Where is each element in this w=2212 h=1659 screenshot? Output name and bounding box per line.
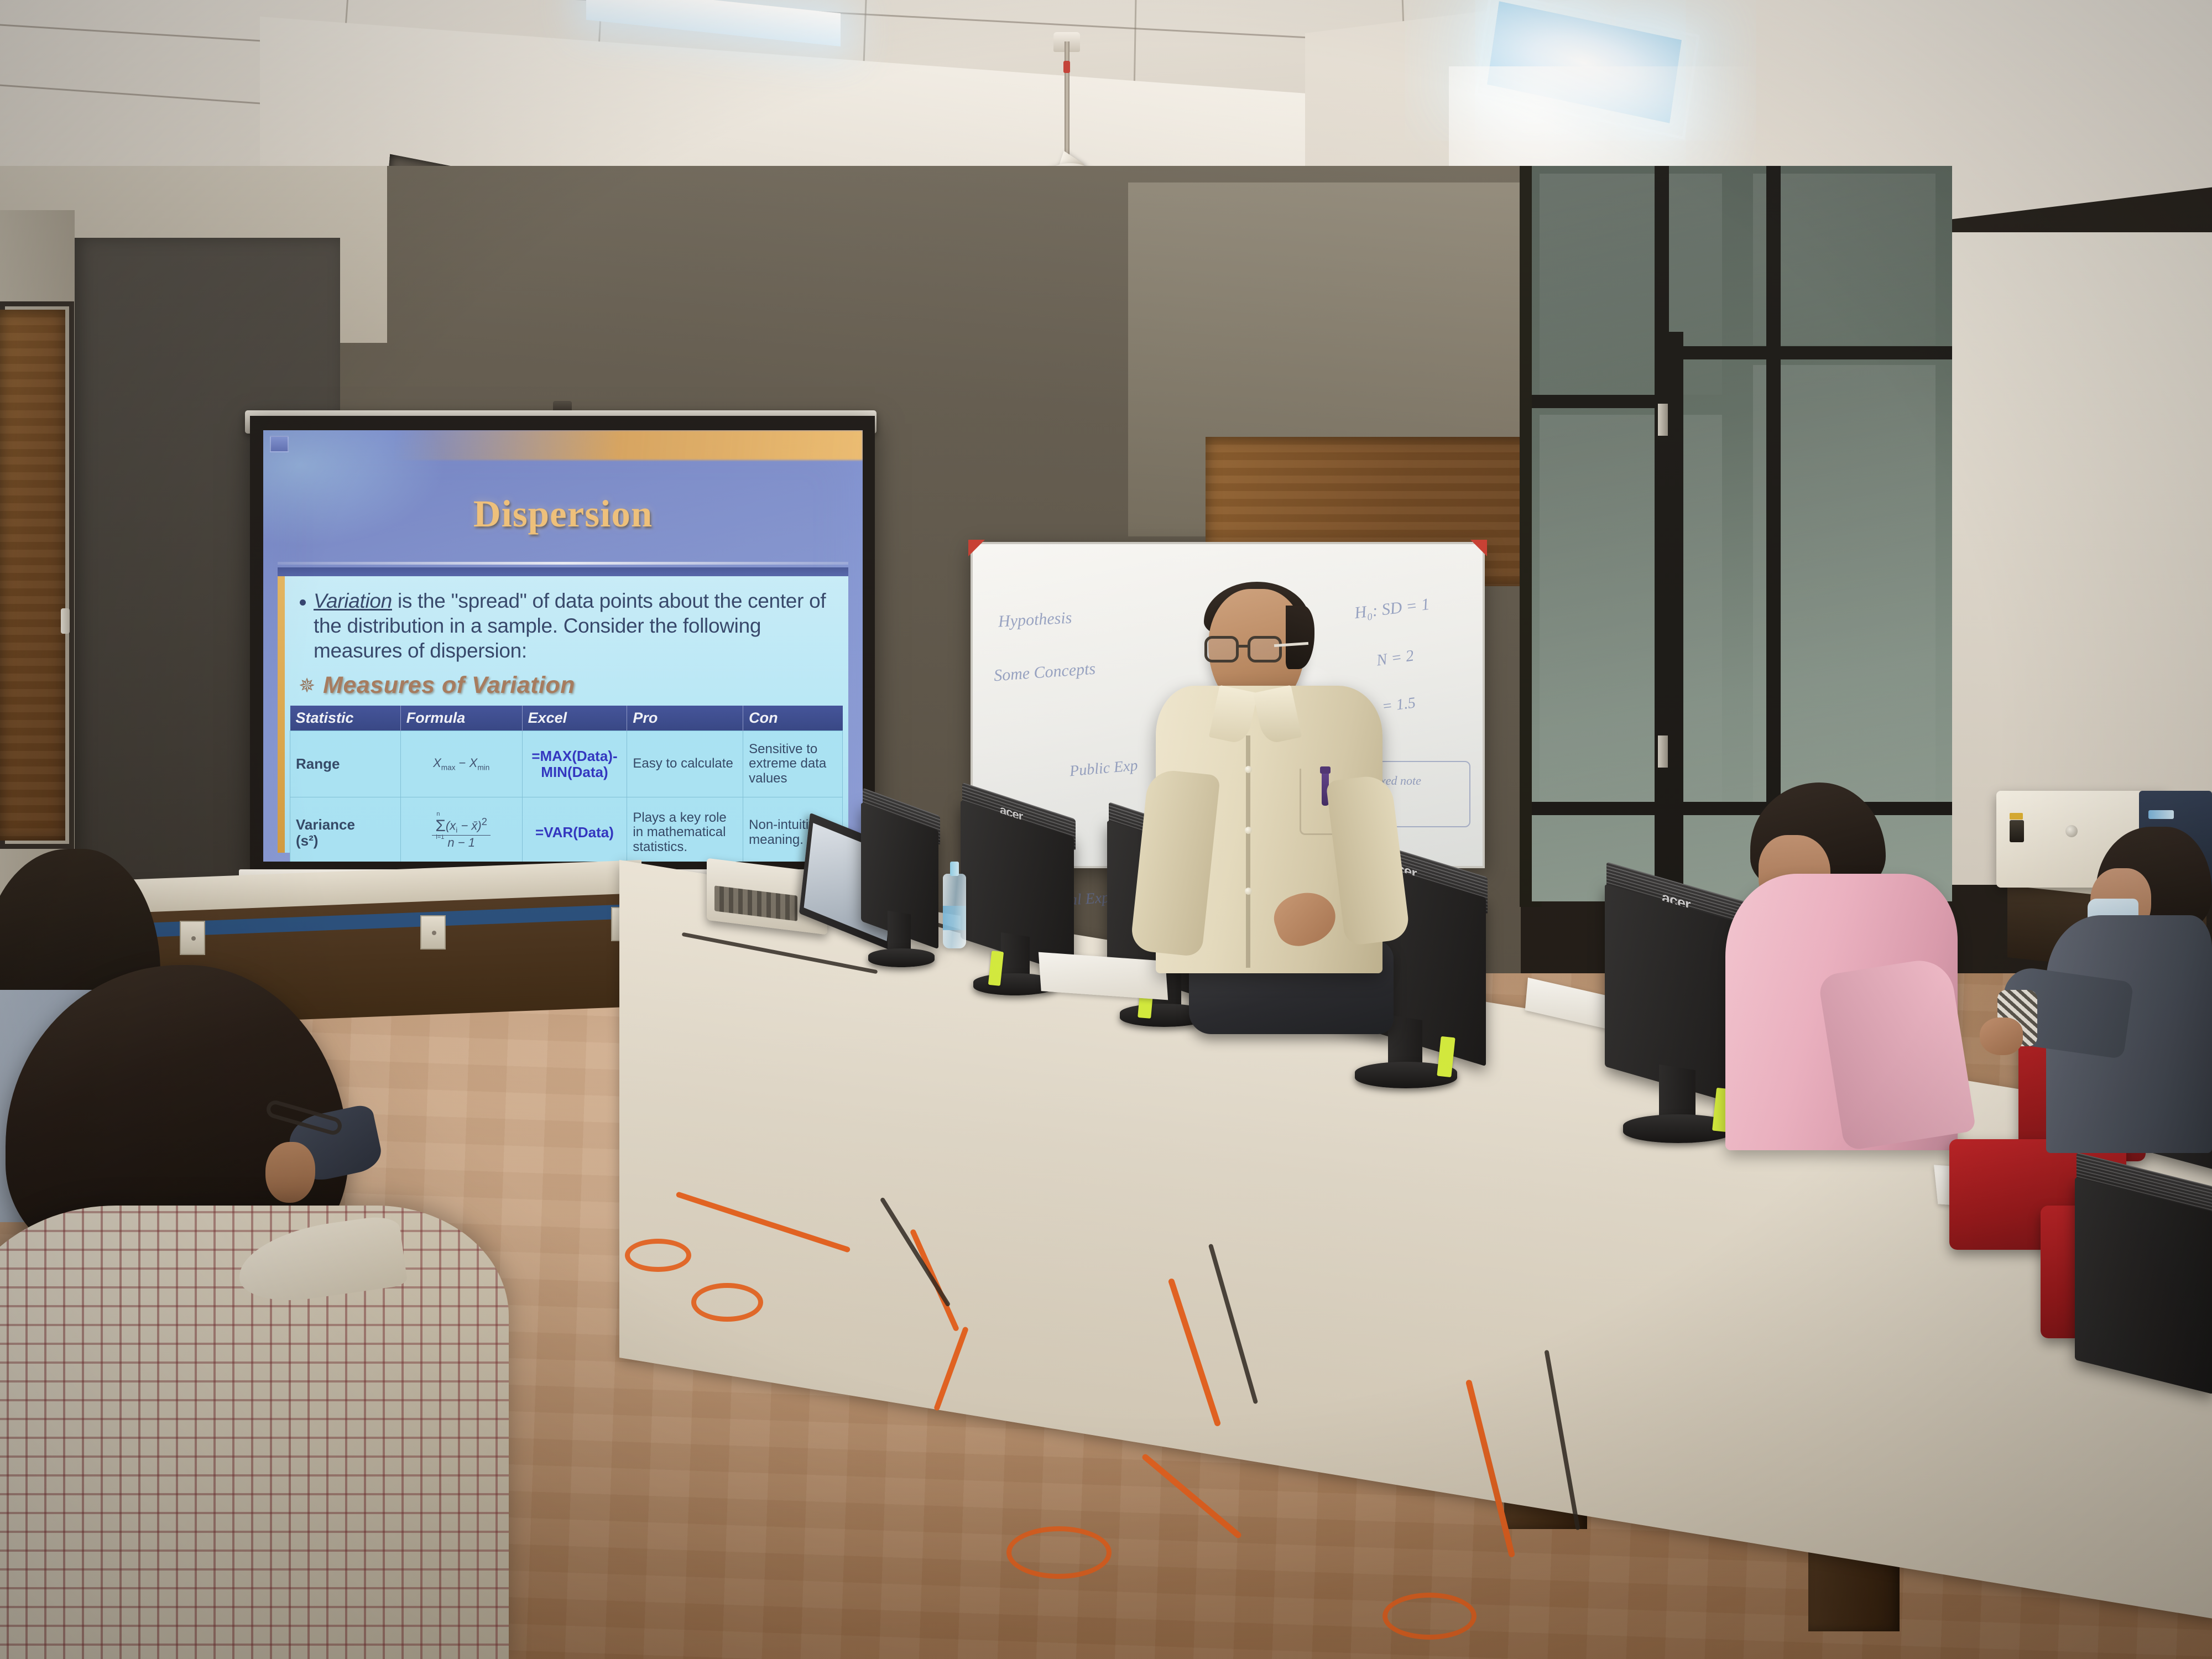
col-statistic: Statistic bbox=[290, 706, 401, 731]
door-handle[interactable] bbox=[61, 608, 70, 634]
water-bottle[interactable] bbox=[943, 874, 966, 948]
classroom-scene: Dispersion Variation is the "spread" of … bbox=[0, 0, 2212, 1659]
sigma-lower-limit: i=1 bbox=[436, 835, 444, 840]
glass-pane bbox=[1540, 415, 1722, 802]
glass-partition bbox=[1532, 166, 1952, 901]
eyeglasses bbox=[1204, 636, 1304, 665]
left-wooden-door[interactable] bbox=[0, 310, 65, 841]
slide-accent-stripe bbox=[395, 430, 863, 460]
statistic-line-2: (s²) bbox=[296, 832, 318, 849]
col-pro: Pro bbox=[627, 706, 743, 731]
num-rest: − x̄) bbox=[457, 818, 481, 832]
col-formula: Formula bbox=[400, 706, 522, 731]
cell-statistic: Variance (s²) bbox=[290, 797, 401, 862]
sigma-upper-limit: n bbox=[436, 812, 440, 817]
slide-body: Variation is the "spread" of data points… bbox=[278, 576, 848, 853]
bullet-text-wrap: Variation is the "spread" of data points… bbox=[314, 588, 836, 663]
slide-bullet: Variation is the "spread" of data points… bbox=[290, 588, 836, 663]
partition-transom bbox=[1532, 395, 1659, 408]
lens bbox=[1204, 636, 1239, 662]
cell-excel: =MAX(Data)- MIN(Data) bbox=[522, 731, 627, 797]
shirt-button bbox=[1245, 766, 1252, 773]
printer-control-panel[interactable] bbox=[2010, 820, 2024, 842]
table-row: Variance (s²) nΣi=1(xi − x̄)2 n − 1 =VAR… bbox=[290, 797, 843, 862]
bottle-label bbox=[943, 906, 966, 930]
partition-mullion bbox=[1655, 166, 1669, 901]
num-open: (x bbox=[446, 818, 456, 832]
glasses-bridge bbox=[1239, 645, 1249, 648]
whiteboard-clip bbox=[968, 540, 985, 556]
section-heading-row: ✵ Measures of Variation bbox=[290, 672, 836, 699]
slide-corner-badge bbox=[270, 436, 289, 452]
hand bbox=[1980, 1018, 2023, 1055]
formula-operator: − bbox=[459, 756, 466, 770]
whiteboard-note: Public Exp bbox=[1069, 757, 1139, 781]
table-header-row: Statistic Formula Excel Pro Con bbox=[290, 706, 843, 731]
wall-socket[interactable] bbox=[180, 921, 205, 955]
fraction-numerator: nΣi=1(xi − x̄)2 bbox=[432, 816, 491, 836]
col-con: Con bbox=[743, 706, 843, 731]
formula-sub: min bbox=[477, 763, 489, 771]
num-exponent: 2 bbox=[482, 816, 487, 827]
whiteboard-note: N = 2 bbox=[1375, 646, 1415, 670]
bullet-dot-icon bbox=[300, 599, 306, 606]
printer-indicator-light bbox=[2010, 813, 2023, 820]
lens bbox=[1248, 636, 1282, 662]
presentation-slide: Dispersion Variation is the "spread" of … bbox=[263, 430, 863, 862]
formula-var: X bbox=[433, 756, 441, 770]
monitor-back bbox=[2075, 1177, 2212, 1394]
partition-door-stile bbox=[1669, 332, 1683, 901]
whiteboard-note: H₀: SD = 1 bbox=[1353, 595, 1431, 623]
door-hinge bbox=[1658, 404, 1668, 436]
printer-status-led bbox=[2148, 810, 2174, 819]
col-excel: Excel bbox=[522, 706, 627, 731]
slide-title: Dispersion bbox=[263, 492, 863, 536]
ear bbox=[265, 1142, 315, 1203]
wall-socket[interactable] bbox=[420, 915, 446, 950]
cell-formula: nΣi=1(xi − x̄)2 n − 1 bbox=[400, 797, 522, 862]
door-hinge bbox=[1658, 735, 1668, 768]
cell-formula: Xmax − Xmin bbox=[400, 731, 522, 797]
statistic-line-1: Variance bbox=[296, 816, 355, 833]
sigma-glyph: Σ bbox=[435, 817, 446, 835]
network-cable-coil bbox=[625, 1239, 691, 1272]
measures-of-variation-table: Statistic Formula Excel Pro Con Range Xm… bbox=[290, 706, 843, 862]
formula-sub: max bbox=[441, 763, 456, 771]
monitor-base bbox=[868, 948, 935, 967]
cell-pro: Easy to calculate bbox=[627, 731, 743, 797]
network-cable-coil bbox=[1383, 1593, 1477, 1640]
whiteboard-note: Hypothesis bbox=[998, 609, 1072, 632]
whiteboard-clip bbox=[1470, 540, 1487, 556]
fan-rod-marker bbox=[1063, 61, 1070, 73]
whiteboard-note: Some Concepts bbox=[993, 660, 1096, 686]
cell-excel: =VAR(Data) bbox=[522, 797, 627, 862]
printer-power-button[interactable] bbox=[2065, 825, 2078, 837]
glass-pane bbox=[1540, 174, 1722, 395]
partition-mullion bbox=[1766, 166, 1781, 901]
excel-line-2: MIN(Data) bbox=[541, 764, 608, 780]
partition-transom bbox=[1669, 346, 1952, 359]
sleeve bbox=[1817, 956, 1976, 1151]
slide-divider bbox=[278, 562, 848, 565]
network-cable-coil bbox=[1006, 1526, 1112, 1579]
bullet-term: Variation bbox=[314, 589, 392, 612]
shirt-button bbox=[1245, 888, 1252, 895]
table-row: Range Xmax − Xmin =MAX(Data)- MIN(Data) … bbox=[290, 731, 843, 797]
formula-fraction: nΣi=1(xi − x̄)2 n − 1 bbox=[432, 816, 491, 850]
projection-screen: Dispersion Variation is the "spread" of … bbox=[250, 416, 875, 875]
cell-con: Sensitive to extreme data values bbox=[743, 731, 843, 797]
cell-statistic: Range bbox=[290, 731, 401, 797]
cell-pro: Plays a key role in mathematical statist… bbox=[627, 797, 743, 862]
star-bullet-icon: ✵ bbox=[299, 676, 315, 696]
whiteboard-note: = 1.5 bbox=[1381, 694, 1416, 716]
section-heading: Measures of Variation bbox=[323, 672, 575, 699]
sigma-icon: nΣi=1 bbox=[435, 819, 446, 833]
partition-sill bbox=[1532, 802, 1952, 815]
far-right-wall bbox=[1947, 232, 2212, 885]
projector-ports bbox=[714, 885, 797, 921]
formula-var: X bbox=[469, 756, 478, 770]
shirt-button bbox=[1245, 827, 1252, 834]
network-cable-coil bbox=[691, 1283, 763, 1322]
excel-line-1: =MAX(Data)- bbox=[531, 748, 617, 764]
